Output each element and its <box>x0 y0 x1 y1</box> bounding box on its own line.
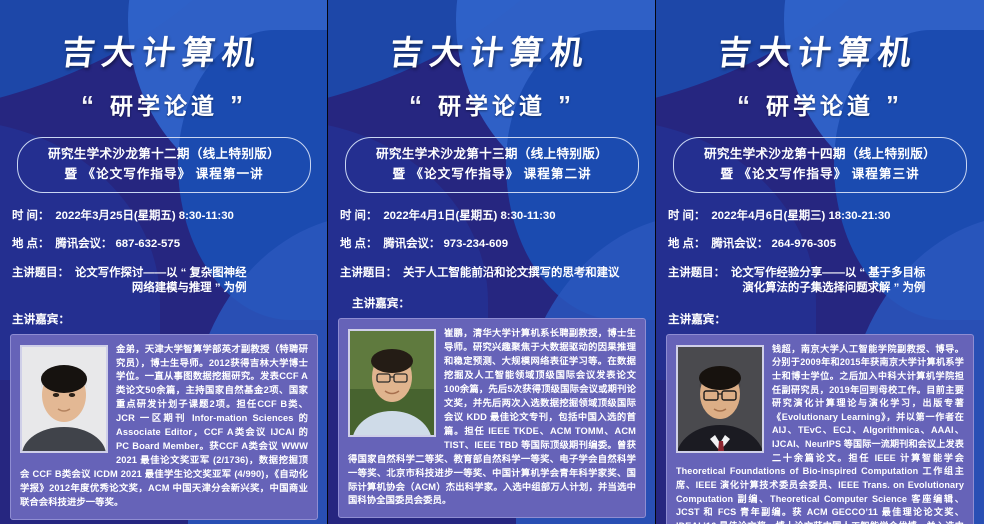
poster-session-13[interactable]: 吉大计算机 “研学论道” 研究生学术沙龙第十三期（线上特别版） 暨 《论文写作指… <box>328 0 656 524</box>
portrait-jin-di <box>20 345 108 453</box>
topic-line-1: 论文写作经验分享——以 “ 基于多目标 <box>731 267 925 279</box>
row-topic: 主讲题目： 关于人工智能前沿和论文撰写的思考和建议 <box>340 266 644 281</box>
row-place: 地 点： 腾讯会议： 973-234-609 <box>340 237 644 252</box>
row-topic: 主讲题目： 论文写作探讨——以 “ 复杂图神经 网络建模与推理 ” 为例 <box>12 266 316 297</box>
topic-line-2: 网络建模与推理 ” 为例 <box>75 281 247 296</box>
label-place: 地 点： <box>668 237 705 252</box>
slogan-text: 研学论道 <box>110 93 218 119</box>
quote-open-icon: “ <box>81 90 98 120</box>
value-topic: 论文写作探讨——以 “ 复杂图神经 网络建模与推理 ” 为例 <box>75 266 247 297</box>
slogan-text: 研学论道 <box>438 93 546 119</box>
row-place: 地 点： 腾讯会议： 687-632-575 <box>12 237 316 252</box>
slogan: “研学论道” <box>0 87 328 121</box>
quote-close-icon: ” <box>886 90 903 120</box>
session-line-1: 研究生学术沙龙第十四期（线上特别版） <box>680 145 960 165</box>
slogan-text: 研学论道 <box>766 93 874 119</box>
value-place: 腾讯会议： 687-632-575 <box>55 237 180 252</box>
row-time: 时 间： 2022年3月25日(星期五) 8:30-11:30 <box>12 209 316 224</box>
info-block: 时 间： 2022年4月1日(星期五) 8:30-11:30 地 点： 腾讯会议… <box>328 209 656 311</box>
value-time: 2022年4月6日(星期三) 18:30-21:30 <box>711 209 890 224</box>
portrait-cui-peng <box>348 329 436 437</box>
speaker-card: 金弟，天津大学智算学部英才副教授（特聘研究员），博士生导师。2012获得吉林大学… <box>10 334 318 520</box>
brand-title: 吉大计算机 <box>0 0 328 74</box>
brand-title: 吉大计算机 <box>656 0 984 74</box>
quote-close-icon: ” <box>558 90 575 120</box>
brand-title: 吉大计算机 <box>328 0 656 74</box>
label-time: 时 间： <box>668 209 705 224</box>
speaker-card: 崔鹏，清华大学计算机系长聘副教授，博士生导师。研究兴趣聚焦于大数据驱动的因果推理… <box>338 318 646 518</box>
row-time: 时 间： 2022年4月6日(星期三) 18:30-21:30 <box>668 209 972 224</box>
label-place: 地 点： <box>12 237 49 252</box>
label-time: 时 间： <box>12 209 49 224</box>
row-place: 地 点： 腾讯会议： 264-976-305 <box>668 237 972 252</box>
topic-line-1: 关于人工智能前沿和论文撰写的思考和建议 <box>403 267 619 279</box>
session-line-2: 暨 《论文写作指导》 课程第一讲 <box>24 165 304 185</box>
label-guest: 主讲嘉宾： <box>340 295 644 311</box>
session-line-2: 暨 《论文写作指导》 课程第二讲 <box>352 165 632 185</box>
label-place: 地 点： <box>340 237 377 252</box>
session-line-1: 研究生学术沙龙第十二期（线上特别版） <box>24 145 304 165</box>
label-guest: 主讲嘉宾： <box>12 311 316 327</box>
poster-session-12[interactable]: 吉大计算机 “研学论道” 研究生学术沙龙第十二期（线上特别版） 暨 《论文写作指… <box>0 0 328 524</box>
value-time: 2022年4月1日(星期五) 8:30-11:30 <box>383 209 555 224</box>
session-line-2: 暨 《论文写作指导》 课程第三讲 <box>680 165 960 185</box>
session-pill: 研究生学术沙龙第十二期（线上特别版） 暨 《论文写作指导》 课程第一讲 <box>17 137 311 193</box>
session-pill: 研究生学术沙龙第十四期（线上特别版） 暨 《论文写作指导》 课程第三讲 <box>673 137 967 193</box>
value-topic: 论文写作经验分享——以 “ 基于多目标 演化算法的子集选择问题求解 ” 为例 <box>731 266 925 297</box>
label-topic: 主讲题目： <box>12 266 69 297</box>
value-place: 腾讯会议： 973-234-609 <box>383 237 508 252</box>
quote-close-icon: ” <box>230 90 247 120</box>
row-time: 时 间： 2022年4月1日(星期五) 8:30-11:30 <box>340 209 644 224</box>
session-line-1: 研究生学术沙龙第十三期（线上特别版） <box>352 145 632 165</box>
value-topic: 关于人工智能前沿和论文撰写的思考和建议 <box>403 266 619 281</box>
topic-line-1: 论文写作探讨——以 “ 复杂图神经 <box>75 267 247 279</box>
info-block: 时 间： 2022年3月25日(星期五) 8:30-11:30 地 点： 腾讯会… <box>0 209 328 327</box>
quote-open-icon: “ <box>737 90 754 120</box>
label-time: 时 间： <box>340 209 377 224</box>
value-place: 腾讯会议： 264-976-305 <box>711 237 836 252</box>
value-time: 2022年3月25日(星期五) 8:30-11:30 <box>55 209 234 224</box>
label-topic: 主讲题目： <box>668 266 725 297</box>
quote-open-icon: “ <box>409 90 426 120</box>
poster-session-14[interactable]: 吉大计算机 “研学论道” 研究生学术沙龙第十四期（线上特别版） 暨 《论文写作指… <box>656 0 984 524</box>
speaker-card: 钱超，南京大学人工智能学院副教授、博导。分别于2009年和2015年获南京大学计… <box>666 334 974 524</box>
topic-line-2: 演化算法的子集选择问题求解 ” 为例 <box>731 281 925 296</box>
row-topic: 主讲题目： 论文写作经验分享——以 “ 基于多目标 演化算法的子集选择问题求解 … <box>668 266 972 297</box>
session-pill: 研究生学术沙龙第十三期（线上特别版） 暨 《论文写作指导》 课程第二讲 <box>345 137 639 193</box>
poster-board: 吉大计算机 “研学论道” 研究生学术沙龙第十二期（线上特别版） 暨 《论文写作指… <box>0 0 984 524</box>
label-guest: 主讲嘉宾： <box>668 311 972 327</box>
label-topic: 主讲题目： <box>340 266 397 281</box>
info-block: 时 间： 2022年4月6日(星期三) 18:30-21:30 地 点： 腾讯会… <box>656 209 984 327</box>
slogan: “研学论道” <box>328 87 656 121</box>
slogan: “研学论道” <box>656 87 984 121</box>
portrait-qian-chao <box>676 345 764 453</box>
